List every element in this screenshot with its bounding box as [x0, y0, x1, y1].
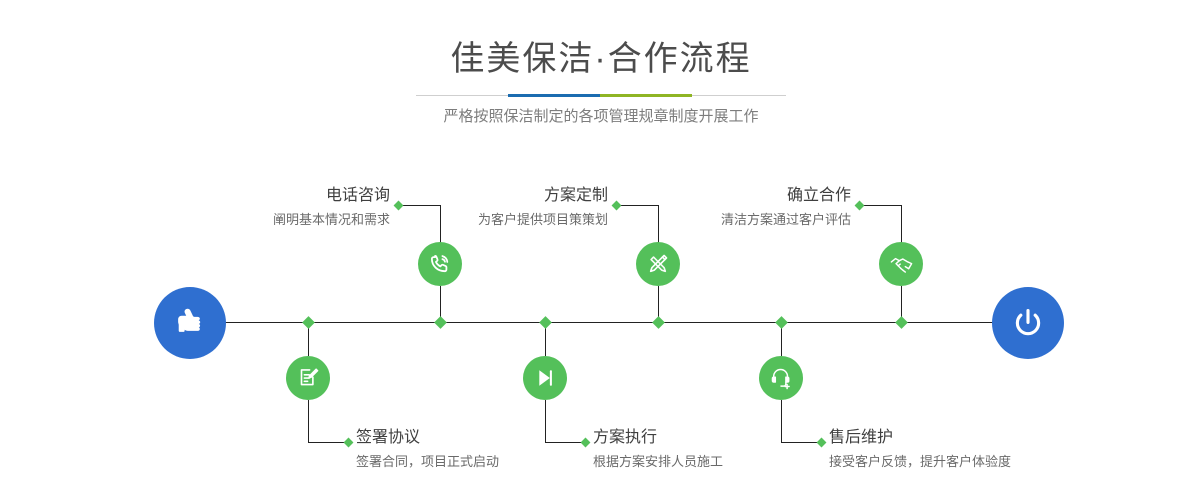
connector-step-5-upper: [901, 205, 902, 243]
step-5-desc: 清洁方案通过客户评估: [611, 210, 851, 229]
axis-marker-step-6: [775, 316, 788, 329]
step-1-label: 电话咨询 阐明基本情况和需求: [150, 186, 390, 229]
flow-end-node[interactable]: [992, 287, 1064, 359]
power-icon: [1008, 303, 1048, 343]
step-3-icon-badge[interactable]: [636, 242, 680, 286]
axis-marker-step-2: [302, 316, 315, 329]
axis-marker-step-4: [539, 316, 552, 329]
step-2-icon-badge[interactable]: [286, 356, 330, 400]
step-3-desc: 为客户提供项目策策划: [368, 210, 608, 229]
step-5-icon-badge[interactable]: [879, 242, 923, 286]
step-5-title: 确立合作: [611, 186, 851, 206]
step-6-label: 售后维护 接受客户反馈，提升客户体验度: [829, 428, 1129, 471]
axis-marker-step-3: [652, 316, 665, 329]
axis-marker-step-5: [895, 316, 908, 329]
infographic-canvas: 佳美保洁·合作流程 严格按照保洁制定的各项管理规章制度开展工作: [0, 0, 1202, 502]
phone-call-icon: [427, 251, 453, 277]
step-6-desc: 接受客户反馈，提升客户体验度: [829, 452, 1129, 471]
step-1-title: 电话咨询: [150, 186, 390, 206]
elbow-step-2: [308, 442, 348, 443]
step-3-label: 方案定制 为客户提供项目策策划: [368, 186, 608, 229]
play-execute-icon: [532, 365, 558, 391]
step-1-icon-badge[interactable]: [418, 242, 462, 286]
label-marker-step-2: [344, 438, 354, 448]
connector-step-2-lower: [308, 400, 309, 442]
pencil-design-icon: [645, 251, 671, 277]
step-1-desc: 阐明基本情况和需求: [150, 210, 390, 229]
step-5-label: 确立合作 清洁方案通过客户评估: [611, 186, 851, 229]
contract-sign-icon: [295, 365, 321, 391]
step-3-title: 方案定制: [368, 186, 608, 206]
handshake-icon: [888, 251, 915, 278]
step-6-icon-badge[interactable]: [759, 356, 803, 400]
flow-start-node[interactable]: [154, 287, 226, 359]
label-marker-step-5: [855, 201, 865, 211]
elbow-step-5: [859, 205, 902, 206]
axis-marker-step-1: [434, 316, 447, 329]
pointing-hand-icon: [171, 304, 209, 342]
process-flow: 电话咨询 阐明基本情况和需求 签署协议 签署合同，项目正式启动: [0, 0, 1202, 502]
headset-support-icon: [768, 365, 794, 391]
step-4-icon-badge[interactable]: [523, 356, 567, 400]
step-6-title: 售后维护: [829, 428, 1129, 448]
